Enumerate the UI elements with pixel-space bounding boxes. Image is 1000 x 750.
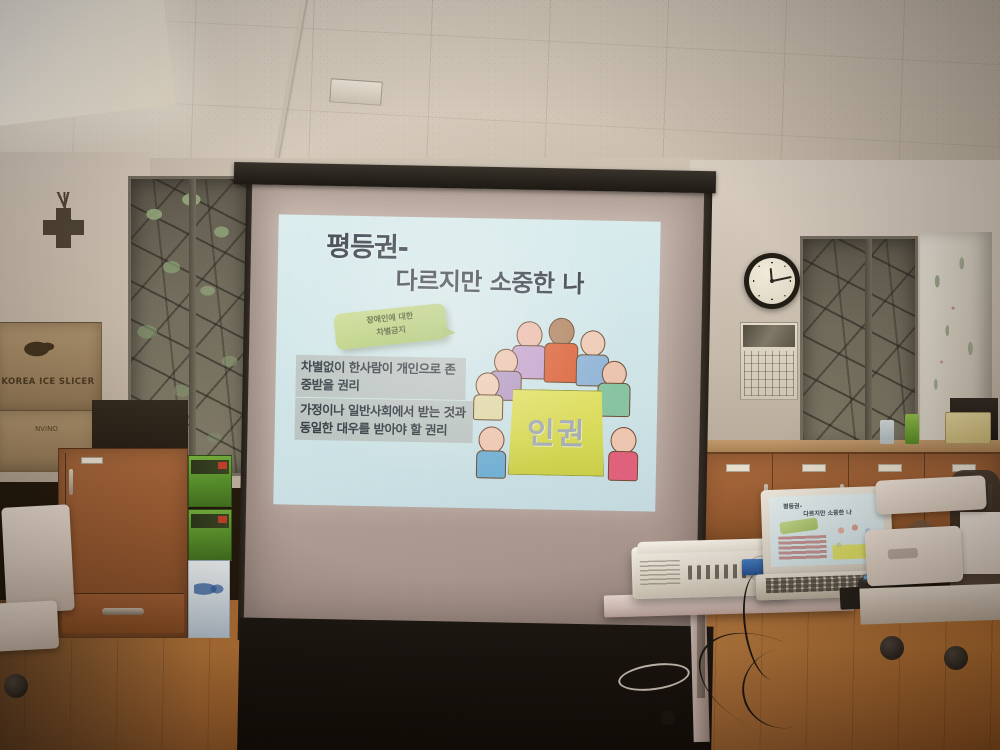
round-wall-clock bbox=[744, 253, 800, 309]
projector-vent bbox=[640, 560, 681, 587]
rights-banner: 인권 bbox=[508, 389, 606, 477]
laptop-slide-title-2: 다르지만 소중한 나 bbox=[803, 507, 852, 518]
calendar-photo-header bbox=[743, 325, 795, 347]
laptop-slide-text bbox=[778, 535, 827, 561]
slide-title-line-1: 평등권- bbox=[326, 233, 408, 262]
bed-footboard bbox=[1, 504, 74, 613]
stone-wall-texture bbox=[803, 239, 915, 451]
counter-package bbox=[945, 412, 991, 444]
cross-horizontal bbox=[43, 220, 84, 235]
storage-bin bbox=[188, 455, 232, 507]
bed-caster bbox=[944, 646, 968, 670]
calendar-date-grid bbox=[744, 351, 794, 396]
drawer-pull-handle[interactable] bbox=[102, 608, 144, 615]
cabinet-label-tag bbox=[81, 457, 103, 464]
kid-body bbox=[608, 451, 639, 482]
bag-logo-icon bbox=[194, 579, 226, 599]
kid-head bbox=[580, 330, 605, 356]
children-illustration: 인권 bbox=[470, 314, 651, 493]
cable-plug-knob bbox=[660, 710, 675, 725]
right-window bbox=[800, 236, 918, 454]
clear-cup bbox=[880, 420, 894, 444]
cabinet-label-tag bbox=[726, 464, 750, 472]
callout-tail bbox=[441, 324, 456, 337]
projector-top-cover bbox=[637, 538, 767, 554]
bin-red-mark bbox=[218, 462, 227, 469]
cross-wall-ornament bbox=[42, 196, 84, 248]
cabinet-label-tag bbox=[878, 464, 902, 472]
slide-text-block-2: 가정이나 일반사회에서 받는 것과 동일한 대우를 받아야 할 권리 bbox=[294, 398, 473, 444]
projector-ports[interactable] bbox=[688, 564, 746, 580]
cabinet-label-tag bbox=[802, 464, 826, 472]
box-sub-label: NVINO bbox=[35, 425, 58, 433]
slide-text-block-1: 차별없이 한사람이 개인으로 존중받을 권리 bbox=[295, 355, 466, 401]
banner-text: 인권 bbox=[509, 408, 604, 454]
window-mullion bbox=[189, 179, 196, 473]
white-package-bag bbox=[188, 560, 230, 638]
kid-body bbox=[544, 342, 579, 383]
bed-headboard bbox=[875, 475, 987, 515]
storage-bin bbox=[188, 509, 232, 561]
green-storage-bins bbox=[188, 455, 232, 565]
cabinet-handle[interactable] bbox=[69, 469, 73, 495]
hospital-bed-left bbox=[0, 506, 82, 716]
kid-body bbox=[476, 450, 507, 479]
kid-body bbox=[473, 394, 503, 421]
bed-base-block bbox=[0, 600, 59, 651]
ceiling-vent-fixture bbox=[329, 78, 383, 106]
bed-rail-slot bbox=[888, 548, 918, 560]
bed-caster bbox=[4, 674, 28, 698]
bed-frame-right bbox=[859, 583, 1000, 624]
laptop-slide-callout bbox=[779, 517, 818, 534]
clock-center-pin bbox=[770, 279, 774, 283]
callout-bubble: 장애인에 대한 차별금지 bbox=[333, 303, 448, 350]
photo-scene: KOREA ICE SLICER NVINO bbox=[0, 0, 1000, 750]
box-logo-icon bbox=[23, 337, 57, 361]
box-label-text: KOREA ICE SLICER bbox=[0, 377, 99, 387]
bed-sheet bbox=[960, 512, 1000, 574]
wall-calendar bbox=[740, 322, 798, 400]
green-bottle bbox=[905, 414, 919, 444]
clock-face bbox=[749, 258, 795, 304]
cardboard-box-ice-slicer: KOREA ICE SLICER bbox=[0, 322, 102, 414]
window-mullion bbox=[865, 239, 872, 451]
laptop-slide-title-1: 평등권- bbox=[783, 501, 802, 511]
bed-side-rail bbox=[865, 526, 964, 587]
slide-title-line-2: 다르지만 소중한 나 bbox=[395, 269, 584, 297]
bed-caster bbox=[880, 636, 904, 660]
projected-slide: 평등권- 다르지만 소중한 나 장애인에 대한 차별금지 차별없이 한사람이 개… bbox=[273, 214, 660, 511]
bin-red-mark bbox=[218, 516, 227, 523]
